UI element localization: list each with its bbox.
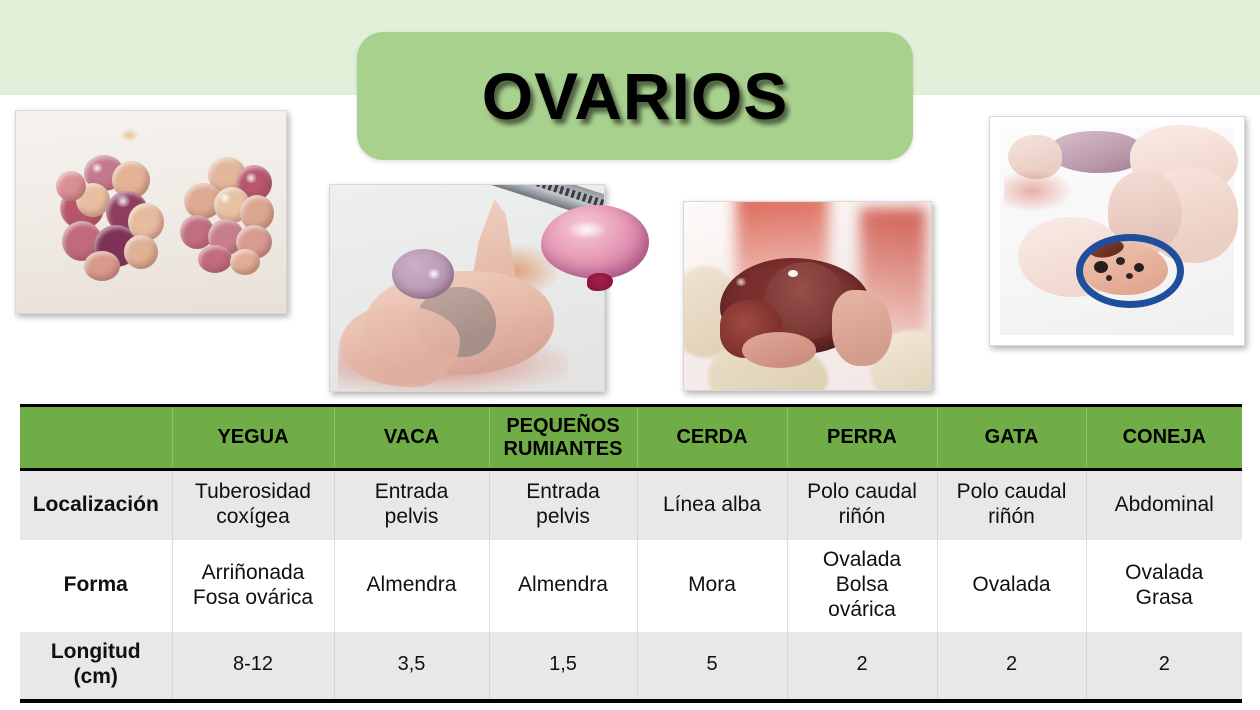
photo-sow-ovaries-pair [15, 110, 287, 314]
column-header-perra: PERRA [787, 406, 937, 470]
cell-localizacion-yegua: Tuberosidad coxígea [172, 470, 334, 540]
column-header-pequenos-rumiantes: PEQUEÑOS RUMIANTES [489, 406, 637, 470]
cell-forma-coneja: Ovalada Grasa [1086, 540, 1242, 632]
cell-localizacion-coneja: Abdominal [1086, 470, 1242, 540]
table-row-localizacion: Localización Tuberosidad coxígea Entrada… [20, 470, 1242, 540]
page-title: OVARIOS [482, 58, 788, 134]
species-comparison-table: YEGUA VACA PEQUEÑOS RUMIANTES CERDA PERR… [20, 404, 1242, 703]
table-header-row: YEGUA VACA PEQUEÑOS RUMIANTES CERDA PERR… [20, 406, 1242, 470]
cell-forma-cerda: Mora [637, 540, 787, 632]
cell-longitud-cerda: 5 [637, 632, 787, 701]
cell-forma-gata: Ovalada [937, 540, 1086, 632]
table-row-forma: Forma Arriñonada Fosa ovárica Almendra A… [20, 540, 1242, 632]
mare-ovary-body [392, 249, 454, 299]
cell-longitud-pequenos-rumiantes: 1,5 [489, 632, 637, 701]
column-header-coneja: CONEJA [1086, 406, 1242, 470]
table-corner-cell [20, 406, 172, 470]
row-label-longitud: Longitud (cm) [20, 632, 172, 701]
cell-forma-perra: Ovalada Bolsa ovárica [787, 540, 937, 632]
title-banner: OVARIOS [357, 32, 913, 160]
cell-forma-pequenos-rumiantes: Almendra [489, 540, 637, 632]
cell-localizacion-pequenos-rumiantes: Entrada pelvis [489, 470, 637, 540]
column-header-yegua: YEGUA [172, 406, 334, 470]
cell-localizacion-cerda: Línea alba [637, 470, 787, 540]
column-header-yegua-line1: YEGUA [176, 426, 331, 448]
row-label-longitud-line2: (cm) [25, 665, 167, 690]
row-label-localizacion: Localización [20, 470, 172, 540]
column-header-gata-line1: GATA [941, 426, 1083, 448]
slide-canvas: OVARIOS [0, 0, 1260, 710]
column-header-pequenos-rumiantes-line2: RUMIANTES [493, 438, 634, 460]
column-header-coneja-line1: CONEJA [1090, 426, 1240, 448]
cell-localizacion-perra: Polo caudal riñón [787, 470, 937, 540]
cell-longitud-vaca: 3,5 [334, 632, 489, 701]
column-header-vaca: VACA [334, 406, 489, 470]
cell-localizacion-gata: Polo caudal riñón [937, 470, 1086, 540]
column-header-cerda: CERDA [637, 406, 787, 470]
blue-ellipse-annotation [1076, 234, 1184, 308]
cell-localizacion-vaca: Entrada pelvis [334, 470, 489, 540]
column-header-pequenos-rumiantes-line1: PEQUEÑOS [493, 415, 634, 437]
row-label-forma-line1: Forma [25, 573, 167, 598]
row-label-localizacion-line1: Localización [25, 493, 167, 518]
cell-longitud-yegua: 8-12 [172, 632, 334, 701]
column-header-cerda-line1: CERDA [641, 426, 784, 448]
photo-pink-ovary-cutout [539, 199, 654, 294]
column-header-vaca-line1: VACA [338, 426, 486, 448]
table-row-longitud: Longitud (cm) 8-12 3,5 1,5 5 2 [20, 632, 1242, 701]
row-label-forma: Forma [20, 540, 172, 632]
column-header-perra-line1: PERRA [791, 426, 934, 448]
photo-rabbit-tract-circled [989, 116, 1245, 346]
cell-forma-yegua: Arriñonada Fosa ovárica [172, 540, 334, 632]
photo-cow-ovary-closeup [683, 201, 932, 391]
column-header-gata: GATA [937, 406, 1086, 470]
cell-longitud-perra: 2 [787, 632, 937, 701]
row-label-longitud-line1: Longitud [25, 640, 167, 665]
cell-longitud-gata: 2 [937, 632, 1086, 701]
cell-longitud-coneja: 2 [1086, 632, 1242, 701]
cell-forma-vaca: Almendra [334, 540, 489, 632]
